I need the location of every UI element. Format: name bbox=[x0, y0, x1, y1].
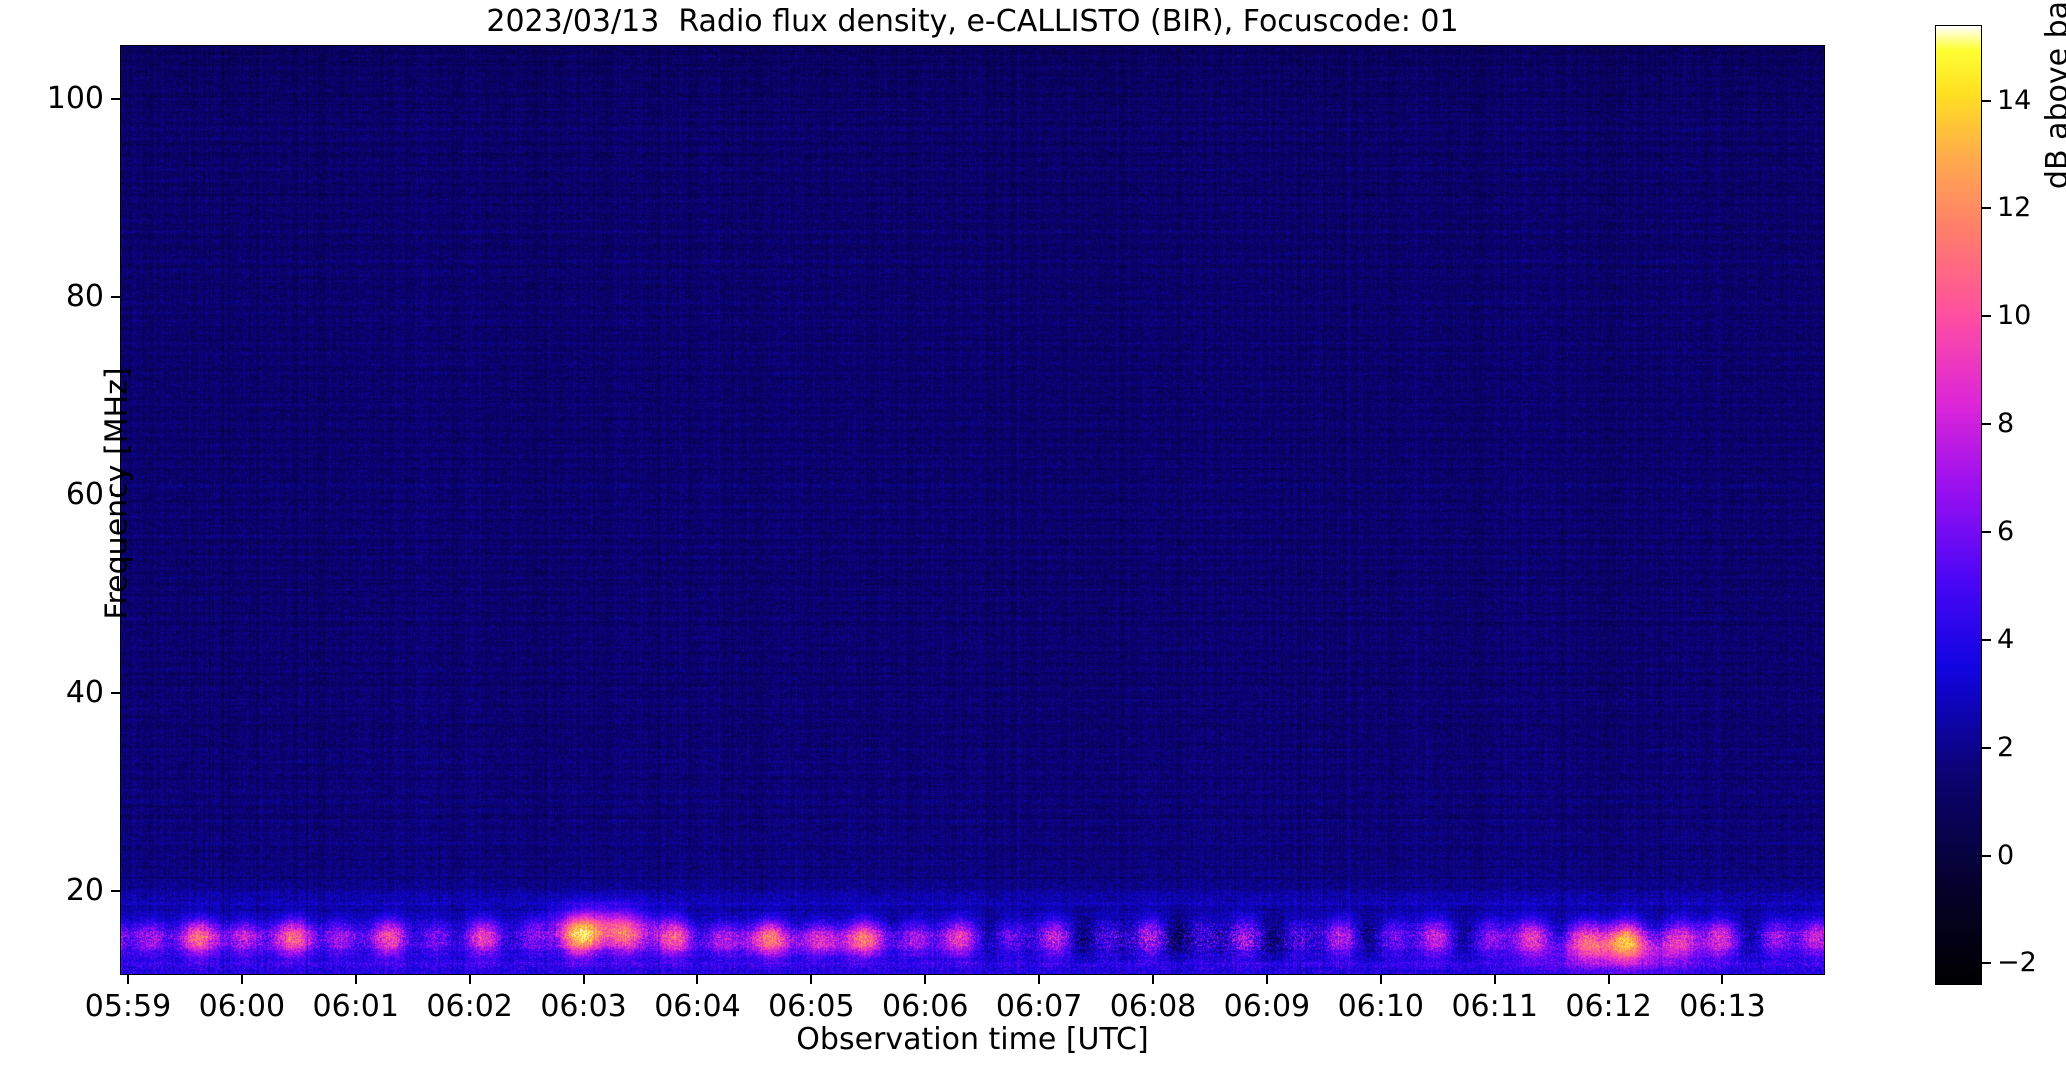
x-axis-label: Observation time [UTC] bbox=[120, 1020, 1825, 1060]
colorbar-tick-label: 8 bbox=[1997, 405, 2014, 443]
x-tick-mark bbox=[469, 975, 471, 984]
colorbar-tick-mark bbox=[1982, 639, 1991, 641]
x-tick-mark bbox=[1152, 975, 1154, 984]
x-tick-mark bbox=[1608, 975, 1610, 984]
colorbar-tick-label: 2 bbox=[1997, 729, 2014, 767]
x-tick-mark bbox=[810, 975, 812, 984]
x-tick-mark bbox=[127, 975, 129, 984]
colorbar-tick-mark bbox=[1982, 100, 1991, 102]
x-tick-mark bbox=[924, 975, 926, 984]
colorbar-label: dB above background bbox=[2040, 0, 2066, 505]
spectrogram-plot-area bbox=[120, 45, 1825, 975]
colorbar-tick-mark bbox=[1982, 747, 1991, 749]
colorbar-tick-mark bbox=[1982, 207, 1991, 209]
colorbar-tick-label: 6 bbox=[1997, 513, 2014, 551]
x-tick-mark bbox=[1266, 975, 1268, 984]
x-tick-mark bbox=[1494, 975, 1496, 984]
x-tick-mark bbox=[355, 975, 357, 984]
colorbar-tick-label: 12 bbox=[1997, 189, 2031, 227]
colorbar-tick-mark bbox=[1982, 962, 1991, 964]
x-tick-mark bbox=[1380, 975, 1382, 984]
colorbar-tick-mark bbox=[1982, 315, 1991, 317]
colorbar-tick-label: 4 bbox=[1997, 621, 2014, 659]
colorbar-tick-label: 10 bbox=[1997, 297, 2031, 335]
colorbar: 14121086420−2 bbox=[1935, 25, 1982, 985]
y-tick-label: 60 bbox=[66, 476, 104, 514]
x-tick-mark bbox=[1721, 975, 1723, 984]
colorbar-tick-mark bbox=[1982, 855, 1991, 857]
x-tick-mark bbox=[1038, 975, 1040, 984]
x-tick-mark bbox=[696, 975, 698, 984]
y-tick-label: 80 bbox=[66, 278, 104, 316]
y-axis-label: Frequency [MHz] bbox=[100, 29, 135, 959]
page-title: 2023/03/13 Radio flux density, e-CALLIST… bbox=[120, 2, 1825, 42]
colorbar-tick-label: −2 bbox=[1997, 944, 2037, 982]
colorbar-tick-mark bbox=[1982, 423, 1991, 425]
y-tick-label: 40 bbox=[66, 674, 104, 712]
x-tick-mark bbox=[583, 975, 585, 984]
y-tick-label: 20 bbox=[66, 872, 104, 910]
spectrogram-image bbox=[121, 46, 1825, 975]
x-tick-mark bbox=[241, 975, 243, 984]
colorbar-tick-label: 14 bbox=[1997, 82, 2031, 120]
colorbar-tick-label: 0 bbox=[1997, 837, 2014, 875]
colorbar-tick-mark bbox=[1982, 531, 1991, 533]
y-tick-label: 100 bbox=[47, 80, 104, 118]
colorbar-gradient bbox=[1935, 25, 1982, 985]
